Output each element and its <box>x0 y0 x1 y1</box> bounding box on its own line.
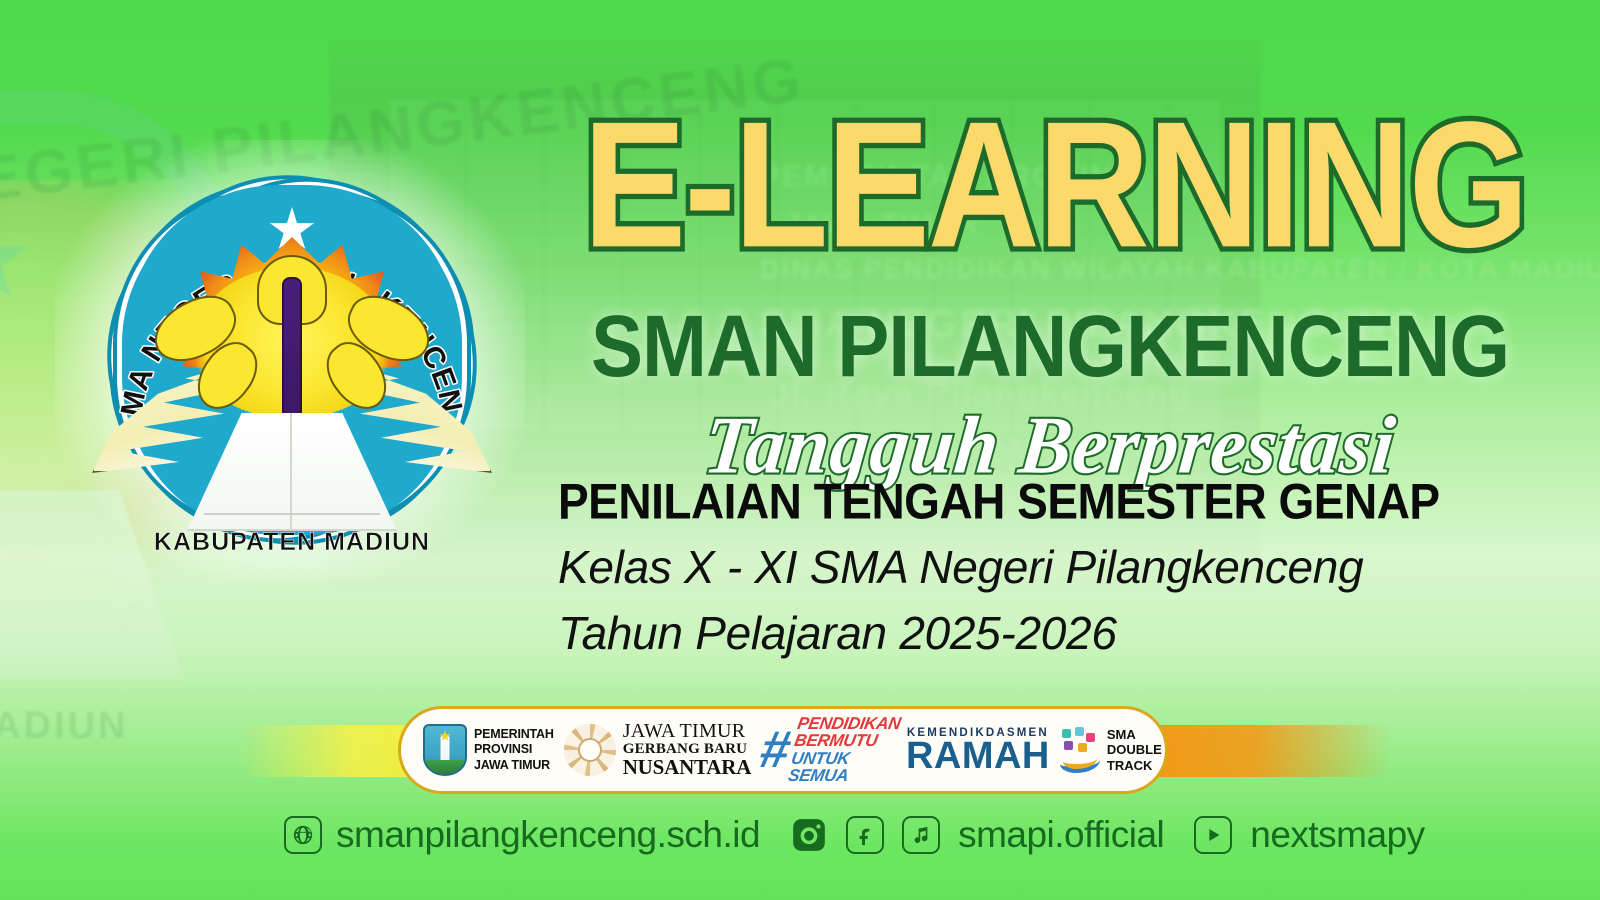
youtube-play-icon[interactable] <box>1194 816 1232 854</box>
partner-ramah-line2: RAMAH <box>906 739 1050 773</box>
partner-sdt-line3: TRACK <box>1107 758 1162 774</box>
partner-gbn-line1: JAWA TIMUR <box>623 721 752 741</box>
partner-gbn-line3: NUSANTARA <box>623 757 752 778</box>
logo-emblem: SMA NEGERI PILANGKENCENG KABUPATEN MADIU… <box>97 155 487 565</box>
globe-icon[interactable] <box>284 816 322 854</box>
social-handle[interactable]: smapi.official <box>958 814 1164 856</box>
youtube-handle[interactable]: nextsmapy <box>1250 814 1424 856</box>
event-subtitle-line2: Tahun Pelajaran 2025-2026 <box>558 606 1518 660</box>
jatim-emblem-base <box>425 760 465 774</box>
watermark-bottom-text: KABUPATEN MADIUN <box>0 705 128 748</box>
partner-pbs-line2: BERMUTU <box>793 733 899 750</box>
jatim-emblem-icon <box>423 724 467 776</box>
double-track-icon <box>1060 727 1100 773</box>
emblem-bottom-text: KABUPATEN MADIUN <box>97 528 487 557</box>
partner-pemprov-line3: JAWA TIMUR <box>474 758 554 773</box>
page-title: E-LEARNING <box>540 100 1570 270</box>
partner-gerbang-baru-nusantara: JAWA TIMUR GERBANG BARU NUSANTARA <box>564 721 752 779</box>
event-title: PENILAIAN TENGAH SEMESTER GENAP <box>558 472 1518 530</box>
partner-sdt-text: SMA DOUBLE TRACK <box>1107 727 1162 774</box>
partner-pendidikan-bermutu: # PENDIDIKAN BERMUTU UNTUK SEMUA <box>761 715 896 784</box>
dt-dot-4 <box>1064 741 1073 750</box>
banner-canvas: PEMERINTAH PROVINSI JAWA TIMUR DINAS PEN… <box>0 0 1600 900</box>
partner-pbs-line1: PENDIDIKAN <box>796 715 902 732</box>
event-subtitle-line1: Kelas X - XI SMA Negeri Pilangkenceng <box>558 540 1518 594</box>
partner-pemprov-line2: PROVINSI <box>474 742 554 757</box>
hashtag-icon: # <box>756 727 791 774</box>
partner-pbs-line3: UNTUK SEMUA <box>787 750 896 785</box>
dt-dot-1 <box>1062 729 1071 738</box>
partner-pemprov-jatim: PEMERINTAH PROVINSI JAWA TIMUR <box>423 724 554 776</box>
partner-logo-bar: PEMERINTAH PROVINSI JAWA TIMUR JAWA TIMU… <box>398 706 1168 794</box>
website-url[interactable]: smanpilangkenceng.sch.id <box>336 814 760 856</box>
partner-pemprov-line1: PEMERINTAH <box>474 727 554 742</box>
dt-dot-2 <box>1075 727 1084 736</box>
partner-sma-double-track: SMA DOUBLE TRACK <box>1060 727 1162 774</box>
partner-kemendikdasmen-ramah: KEMENDIKDASMEN RAMAH <box>906 727 1050 773</box>
school-logo: SMA NEGERI PILANGKENCENG KABUPATEN MADIU… <box>55 140 525 580</box>
facebook-icon[interactable] <box>846 816 884 854</box>
partner-sdt-line1: SMA <box>1107 727 1162 743</box>
headline-block: E-LEARNING SMAN PILANGKENCENG Tangguh Be… <box>540 100 1560 484</box>
tiktok-music-note-icon[interactable] <box>902 816 940 854</box>
school-name-title: SMAN PILANGKENCENG <box>540 302 1560 389</box>
instagram-icon[interactable] <box>790 816 828 854</box>
partner-pbs-text: PENDIDIKAN BERMUTU UNTUK SEMUA <box>787 715 902 784</box>
partner-ramah-text: KEMENDIKDASMEN RAMAH <box>906 727 1050 773</box>
footer-contact-bar: smanpilangkenceng.sch.id smapi.official … <box>0 800 1600 870</box>
partner-gbn-text: JAWA TIMUR GERBANG BARU NUSANTARA <box>623 721 752 779</box>
dt-dot-3 <box>1086 733 1095 742</box>
partner-pemprov-text: PEMERINTAH PROVINSI JAWA TIMUR <box>474 727 554 773</box>
partner-sdt-line2: DOUBLE <box>1107 742 1162 758</box>
nusantara-sunburst-icon <box>564 724 616 776</box>
event-block: PENILAIAN TENGAH SEMESTER GENAP Kelas X … <box>558 472 1518 660</box>
